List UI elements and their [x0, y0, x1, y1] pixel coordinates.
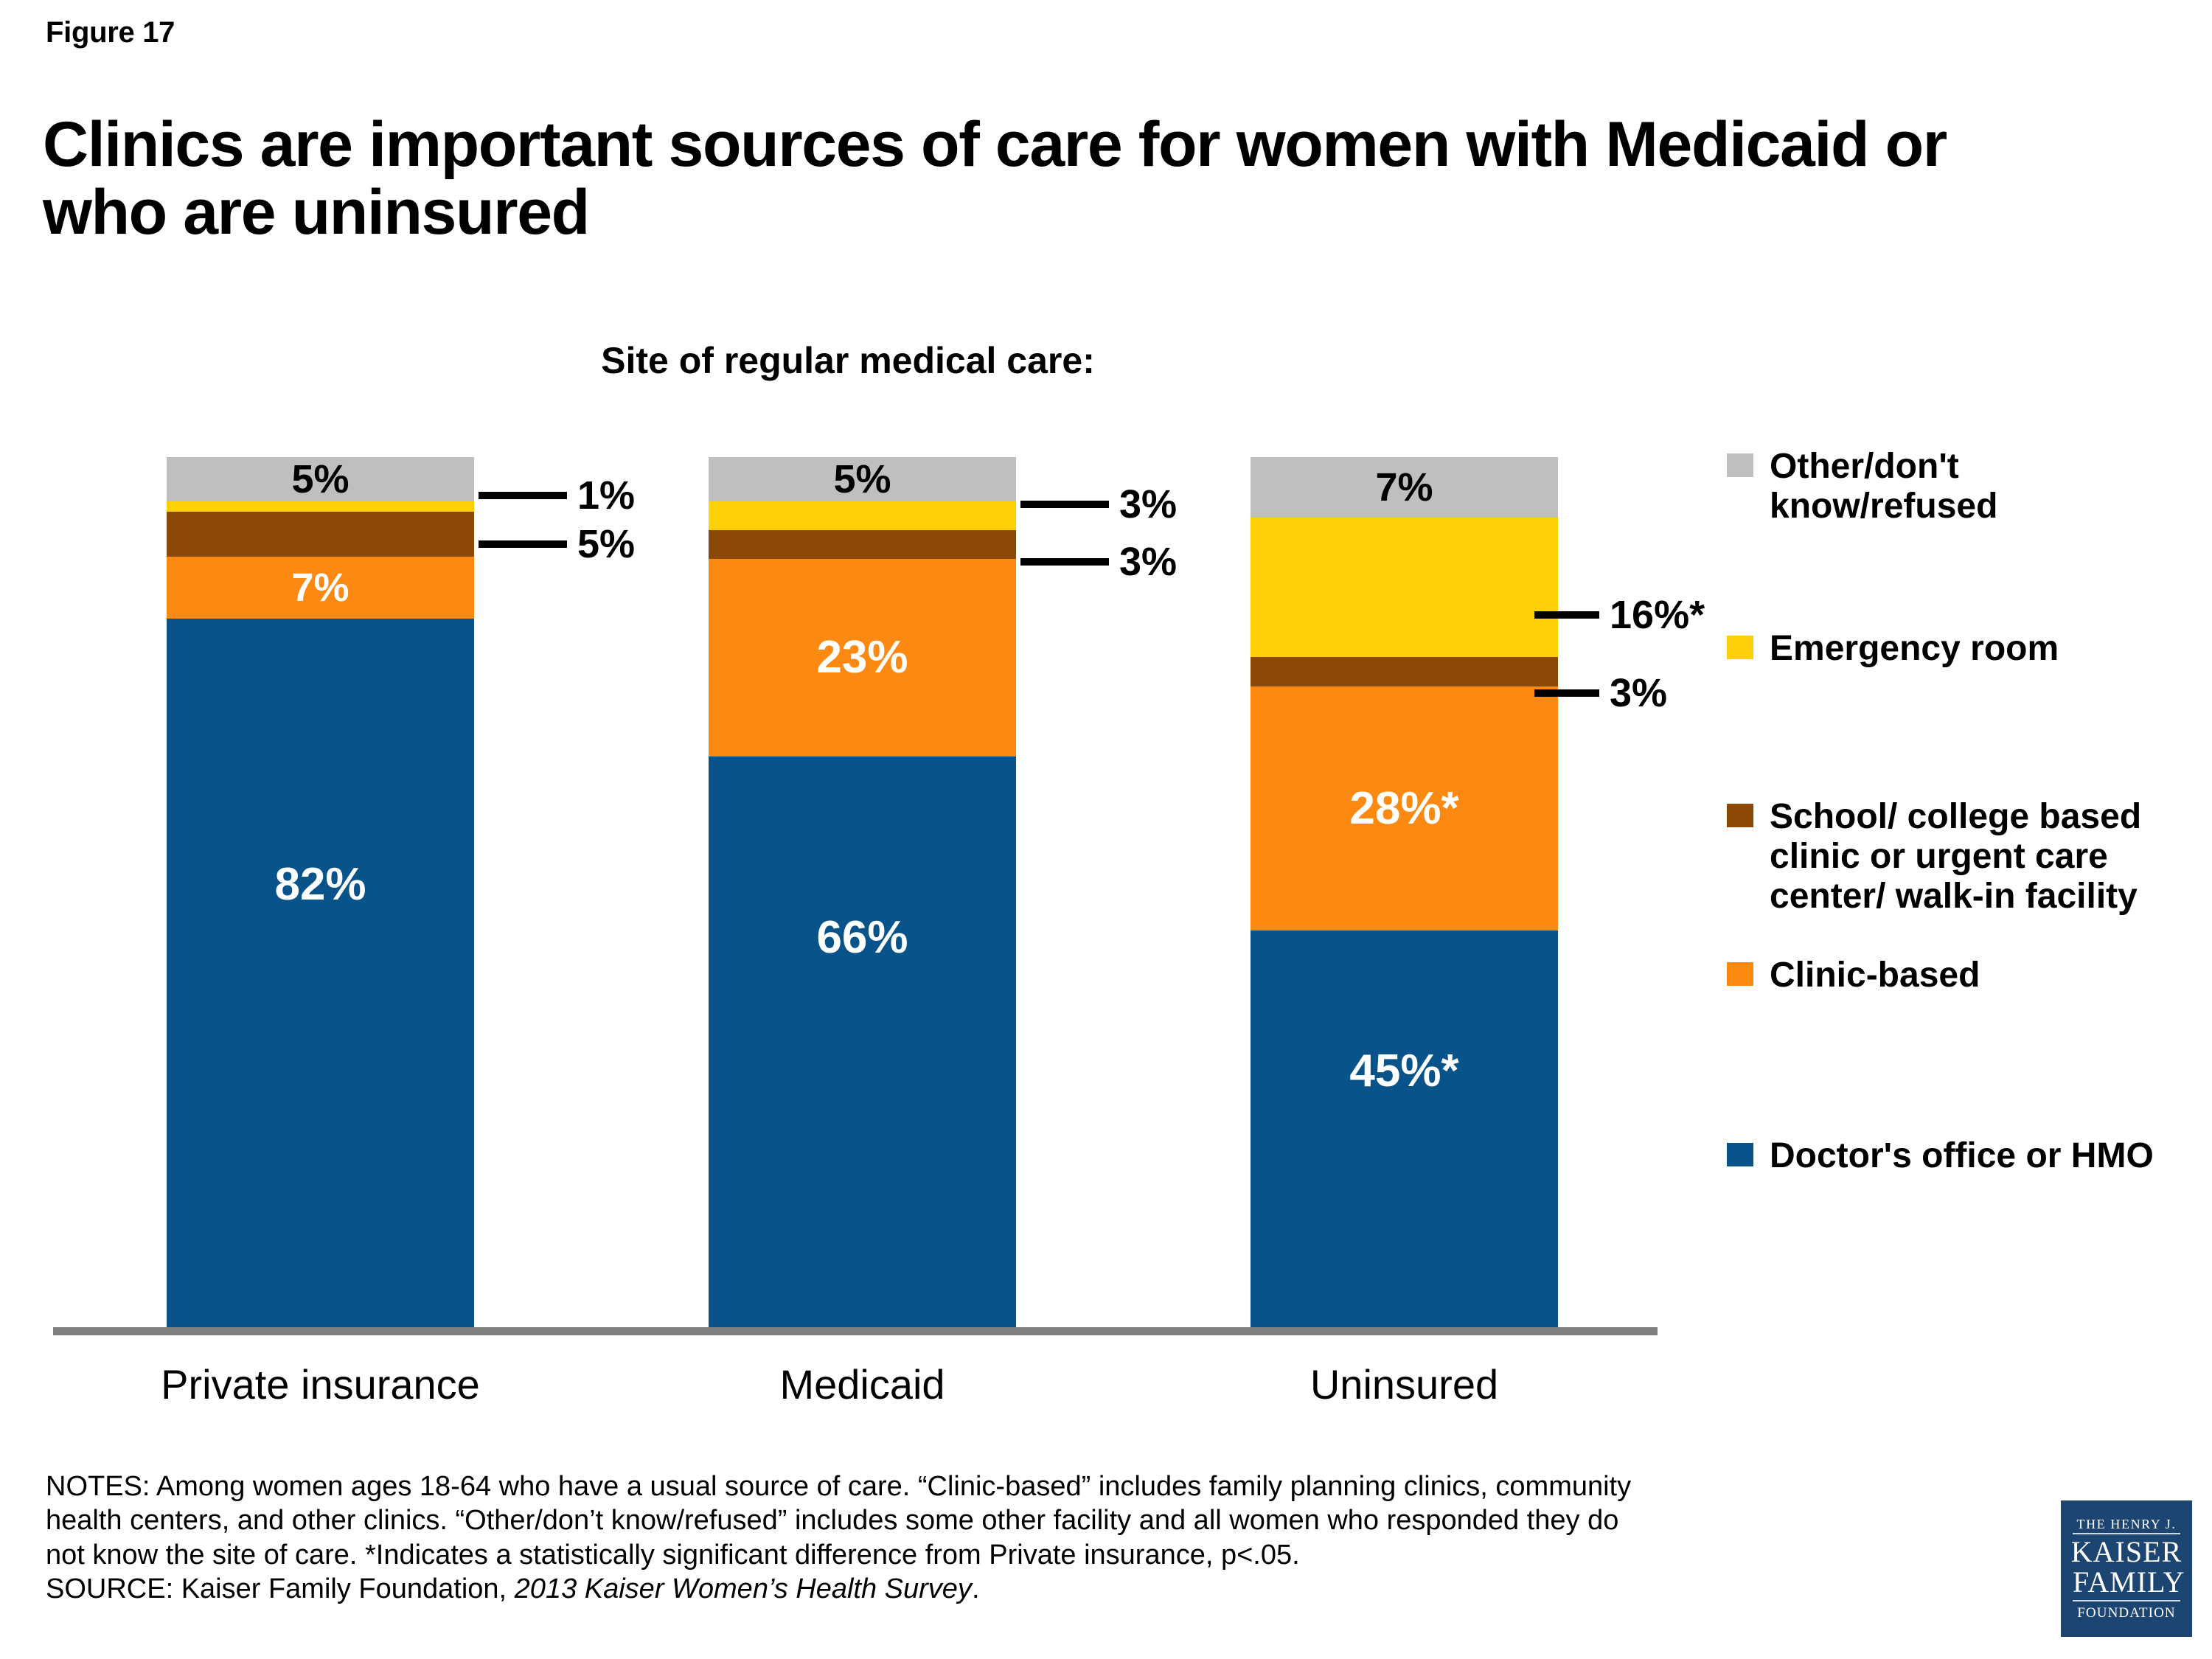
- notes-line-2: health centers, and other clinics. “Othe…: [46, 1503, 2037, 1537]
- source-prefix: SOURCE: Kaiser Family Foundation,: [46, 1573, 515, 1604]
- legend-item-label: Clinic-based: [1770, 956, 2183, 995]
- legend-swatch-icon: [1727, 636, 1753, 659]
- legend-item-other[interactable]: Other/don't know/refused: [1727, 447, 2183, 526]
- source-suffix: .: [972, 1573, 980, 1604]
- legend-item-school-clinic[interactable]: School/ college based clinic or urgent c…: [1727, 797, 2183, 916]
- bar-segment-label: 23%: [816, 635, 908, 681]
- logo-line-1: THE HENRY J.: [2073, 1517, 2180, 1534]
- stacked-bar: 7% 28%* 45%*: [1251, 457, 1558, 1327]
- x-axis-label-private-insurance: Private insurance: [130, 1360, 511, 1408]
- bar-segment-label: 28%*: [1349, 786, 1458, 832]
- bar-segment-emergency-room[interactable]: [709, 501, 1016, 530]
- bar-segment-clinic-based[interactable]: 23%: [709, 559, 1016, 757]
- source-line: SOURCE: Kaiser Family Foundation, 2013 K…: [46, 1572, 2037, 1606]
- source-title: 2013 Kaiser Women’s Health Survey: [515, 1573, 972, 1604]
- notes-line-1: NOTES: Among women ages 18-64 who have a…: [46, 1470, 2037, 1503]
- bar-segment-school-clinic[interactable]: [1251, 657, 1558, 686]
- callout-value: 3%: [1119, 542, 1177, 582]
- callout-value: 3%: [1119, 484, 1177, 524]
- legend-item-doctor-office[interactable]: Doctor's office or HMO: [1727, 1136, 2183, 1176]
- notes-line-3: not know the site of care. *Indicates a …: [46, 1538, 2037, 1572]
- bar-segment-other[interactable]: 5%: [709, 457, 1016, 501]
- callout-medicaid-emergency-room: 3%: [1020, 484, 1177, 524]
- bar-segment-label: 5%: [833, 459, 891, 499]
- bar-segment-other[interactable]: 7%: [1251, 457, 1558, 518]
- category-text: Private insurance: [161, 1361, 480, 1408]
- bar-segment-emergency-room[interactable]: [1251, 518, 1558, 657]
- bar-segment-label: 5%: [291, 459, 349, 499]
- legend-item-clinic-based[interactable]: Clinic-based: [1727, 956, 2183, 995]
- bar-group-medicaid: [366, 457, 673, 1327]
- callout-medicaid-school-clinic: 3%: [1020, 542, 1177, 582]
- callout-value: 3%: [1610, 673, 1667, 713]
- bar-segment-doctor-office[interactable]: 45%*: [1251, 931, 1558, 1327]
- bar-segment-doctor-office[interactable]: 66%: [709, 757, 1016, 1327]
- legend-item-label: Emergency room: [1770, 629, 2183, 669]
- leader-line: [1020, 501, 1109, 508]
- logo-line-3: FAMILY: [2073, 1568, 2180, 1602]
- leader-line: [1534, 689, 1599, 697]
- bar-segment-label: 45%*: [1349, 1048, 1458, 1094]
- legend-item-label: Doctor's office or HMO: [1770, 1136, 2183, 1176]
- x-axis-line: [53, 1327, 1658, 1335]
- stacked-bar: 5% 23% 66%: [709, 457, 1016, 1327]
- bar-segment-school-clinic[interactable]: [709, 530, 1016, 559]
- bar-group-uninsured: 7% 28%* 45%*: [1251, 457, 1558, 1327]
- kaiser-family-foundation-logo: THE HENRY J. KAISER FAMILY FOUNDATION: [2061, 1500, 2192, 1637]
- legend-swatch-icon: [1727, 1143, 1753, 1166]
- bar-segment-label: 7%: [1375, 467, 1433, 507]
- leader-line: [1534, 611, 1599, 619]
- x-axis-label-uninsured: Uninsured: [1214, 1360, 1595, 1408]
- bar-segment-clinic-based[interactable]: 28%*: [1251, 686, 1558, 931]
- callout-uninsured-school-clinic: 3%: [1534, 673, 1667, 713]
- bar-segment-label: 7%: [291, 568, 349, 608]
- legend-item-label: Other/don't know/refused: [1770, 447, 2183, 526]
- callout-value: 16%*: [1610, 595, 1705, 635]
- bar-segment-label: 82%: [274, 862, 366, 908]
- footnotes: NOTES: Among women ages 18-64 who have a…: [46, 1470, 2037, 1606]
- bar-group-medicaid-wrap: 5% 23% 66%: [709, 457, 1016, 1327]
- logo-line-4: FOUNDATION: [2077, 1606, 2175, 1620]
- legend-item-label: School/ college based clinic or urgent c…: [1770, 797, 2183, 916]
- x-axis-label-medicaid: Medicaid: [672, 1360, 1053, 1408]
- logo-line-2: KAISER: [2071, 1537, 2182, 1568]
- legend-swatch-icon: [1727, 804, 1753, 827]
- callout-uninsured-emergency-room: 16%*: [1534, 595, 1705, 635]
- legend-swatch-icon: [1727, 962, 1753, 986]
- legend-swatch-icon: [1727, 453, 1753, 477]
- bar-segment-label: 66%: [816, 915, 908, 961]
- category-text: Uninsured: [1310, 1361, 1498, 1408]
- legend-item-emergency-room[interactable]: Emergency room: [1727, 629, 2183, 669]
- category-text: Medicaid: [779, 1361, 945, 1408]
- leader-line: [1020, 558, 1109, 566]
